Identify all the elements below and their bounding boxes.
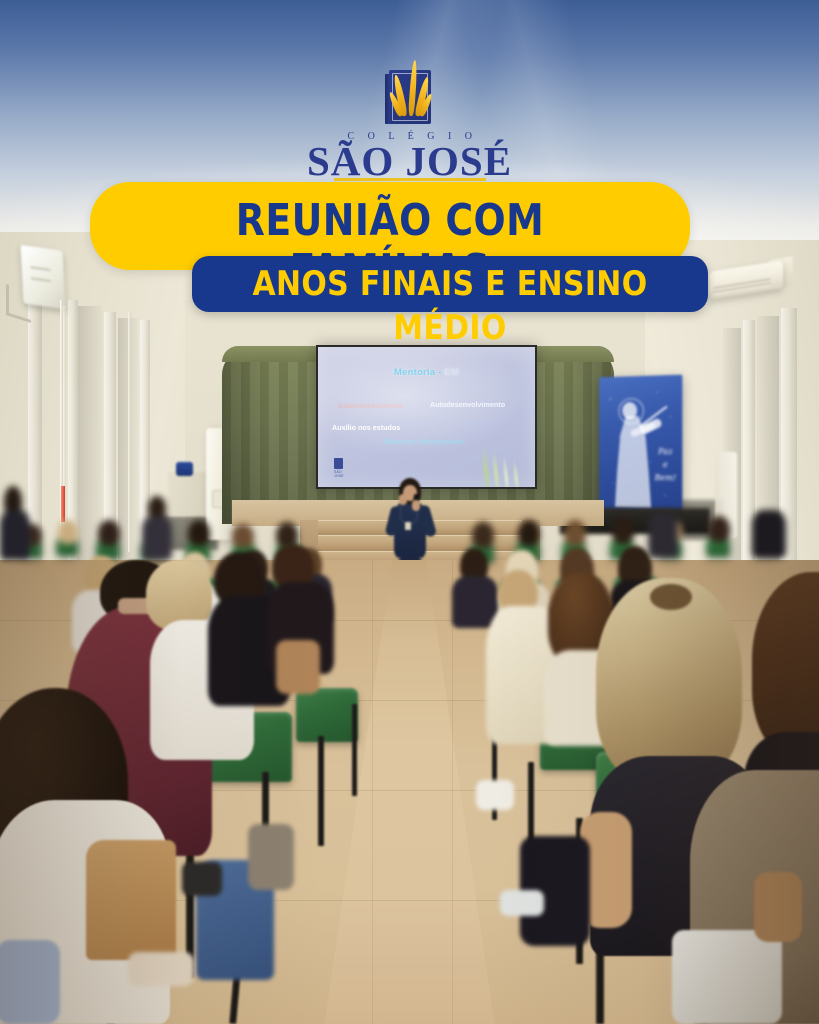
logo-wordmark: SÃO JOSÉ bbox=[307, 140, 512, 182]
presenter-hand-left bbox=[399, 494, 407, 505]
audience-shoe bbox=[128, 952, 194, 986]
rollup-line-1: Paz bbox=[655, 445, 677, 458]
rollup-text: Paz e Bem! bbox=[655, 445, 677, 485]
headline-banner-secondary: ANOS FINAIS E ENSINO MÉDIO bbox=[192, 256, 708, 312]
slide-logo-mark bbox=[334, 458, 343, 469]
flame-over-book-icon bbox=[389, 70, 431, 126]
chair bbox=[296, 688, 358, 742]
slide-title-suffix: EM bbox=[444, 367, 459, 378]
presenter-hand-right bbox=[412, 500, 420, 511]
school-logo: C O L É G I O SÃO JOSÉ DESDE 1972 bbox=[0, 70, 819, 189]
slide-title-main: Mentoria bbox=[394, 367, 435, 378]
floor-plank-seam bbox=[452, 560, 453, 1024]
logo-underline bbox=[334, 178, 486, 181]
headline-secondary-text: ANOS FINAIS E ENSINO MÉDIO bbox=[223, 262, 677, 350]
floor-plank-seam bbox=[372, 560, 373, 1024]
slide-fern-decoration bbox=[465, 416, 537, 489]
audience-shoe bbox=[500, 890, 544, 916]
presenter-badge bbox=[405, 522, 411, 530]
rollup-line-3: Bem! bbox=[655, 471, 677, 484]
blue-bag bbox=[176, 462, 193, 476]
slide-word-auxilio-nos-estudos: Auxílio nos estudos bbox=[332, 423, 400, 432]
slide-word-autoconhecimento: Autoconhecimento bbox=[338, 401, 403, 410]
rollup-banner: Paz e Bem! bbox=[599, 375, 682, 516]
flame-shape bbox=[398, 60, 424, 118]
slide-title-sep: - bbox=[435, 367, 444, 378]
audience-shoe bbox=[476, 780, 514, 810]
wall-conduit bbox=[128, 312, 131, 552]
poster-canvas: Mentoria - EM Autoconhecimento Autodesen… bbox=[0, 0, 819, 1024]
slide-word-relacoes-interpessoais: Relações Interpessoais bbox=[384, 437, 464, 446]
saint-playing-violin-icon bbox=[607, 392, 658, 513]
slide-word-autodesenvolvimento: Autodesenvolvimento bbox=[430, 400, 505, 409]
audience-bag bbox=[248, 824, 294, 890]
fire-alarm-conduit bbox=[61, 486, 65, 522]
audience-shoe bbox=[182, 862, 222, 896]
slide-footer-logo-icon: SÃO JOSÉ bbox=[334, 458, 349, 475]
slide-title: Mentoria - EM bbox=[318, 367, 535, 378]
slide-logo-text: SÃO JOSÉ bbox=[334, 470, 349, 478]
rollup-line-2: e bbox=[655, 458, 677, 471]
projection-screen: Mentoria - EM Autoconhecimento Autodesen… bbox=[316, 345, 537, 489]
